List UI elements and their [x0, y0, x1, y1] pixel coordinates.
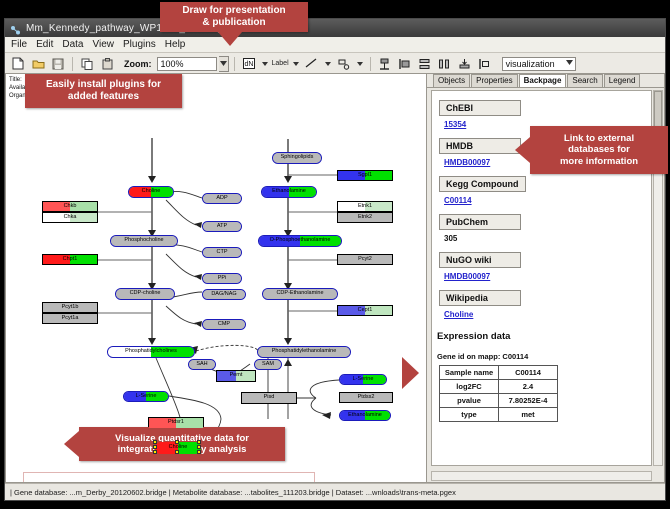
pubchem-value: 305 [444, 234, 651, 243]
zoom-label: Zoom: [124, 59, 152, 69]
menu-file[interactable]: File [11, 39, 27, 50]
backpage-section-nugo: NuGO wiki HMDB00097 [439, 250, 651, 281]
node-label: CMP [218, 322, 230, 328]
scrollbar-thumb[interactable] [654, 91, 662, 131]
node-label: ATP [217, 224, 227, 230]
menu-edit[interactable]: Edit [36, 39, 53, 50]
node-label: L-Serine [136, 394, 157, 400]
node-label: O-Phosphoethanolamine [270, 238, 331, 244]
kegg-header: Kegg Compound [439, 176, 526, 192]
metabolite-node-cdp-ethanolamine[interactable]: CDP-Ethanolamine [262, 288, 338, 300]
menu-plugins[interactable]: Plugins [123, 39, 156, 50]
node-label: CDP-Ethanolamine [276, 291, 323, 297]
metabolite-node-ppi[interactable]: PPi [202, 273, 242, 284]
menu-bar: File Edit Data View Plugins Help [5, 37, 665, 53]
node-label: Ethanolamine [348, 413, 382, 419]
side-panel-horizontal-scrollbar[interactable] [431, 471, 652, 481]
align-top-icon[interactable] [376, 55, 394, 73]
visualization-value: visualization [506, 59, 555, 69]
metabolite-node-phosphatidylcholines[interactable]: Phosphatidylcholines [107, 346, 195, 358]
callout-links-line3: more information [560, 156, 638, 167]
pathvisio-window: Mm_Kennedy_pathway_WP1771_45176.gpml Fil… [4, 18, 666, 501]
node-label: Etnk1 [358, 204, 372, 210]
copy-icon[interactable] [78, 55, 96, 73]
nugo-header: NuGO wiki [439, 252, 521, 268]
metabolite-node-cdp-choline[interactable]: CDP-choline [115, 288, 175, 300]
callout-draw-arrow-icon [218, 32, 242, 46]
node-label: Phosphocholine [124, 238, 163, 244]
gene-node-ptdss2[interactable]: Ptdss2 [339, 392, 393, 403]
node-label: SAM [262, 362, 274, 368]
metabolite-node-phosphatidylethanolamine[interactable]: Phosphatidylethanolamine [257, 346, 351, 358]
selection-handle[interactable] [197, 440, 201, 444]
zoom-combo-caret-icon[interactable] [219, 56, 229, 72]
callout-plugins-arrow-icon [78, 73, 102, 74]
tab-properties[interactable]: Properties [471, 74, 517, 87]
visualization-caret-icon [566, 60, 573, 67]
table-row: log2FC 2.4 [440, 380, 558, 394]
metabolite-node-cmp[interactable]: CMP [202, 319, 246, 330]
node-label: Chkb [64, 204, 77, 210]
tab-legend[interactable]: Legend [604, 74, 641, 87]
table-row: pvalue 7.80252E-4 [440, 394, 558, 408]
node-label: Ethanolamine [272, 189, 306, 195]
expr-value-1: 2.4 [499, 380, 558, 394]
toolbar-separator-2 [234, 57, 235, 71]
metabolite-node-phosphocholine[interactable]: Phosphocholine [110, 235, 178, 247]
metabolite-node-l-serine-right[interactable]: L-Serine [339, 374, 387, 385]
backpage-section-chebi: ChEBI 15354 [439, 98, 651, 129]
zoom-combo[interactable]: 100% [157, 57, 217, 71]
open-folder-icon[interactable] [29, 55, 47, 73]
main-body: Title: Availa Organi [5, 73, 665, 483]
zoom-value: 100% [161, 59, 184, 69]
node-label: Etnk2 [358, 215, 372, 221]
screenshot-root: Mm_Kennedy_pathway_WP1771_45176.gpml Fil… [0, 0, 670, 509]
node-label: Sphingolipids [281, 155, 314, 161]
tab-backpage[interactable]: Backpage [519, 74, 567, 87]
callout-links-line2: databases for [560, 144, 638, 155]
node-label: Pcyt1a [62, 316, 79, 322]
metabolite-node-l-serine-left[interactable]: L-Serine [123, 391, 169, 402]
metabolite-node-sah[interactable]: SAH [188, 359, 216, 370]
gene-node-etnk1[interactable]: Etnk1 [337, 201, 393, 212]
share-banner: Share on Wikipathways.org [23, 472, 315, 483]
line-dropdown-icon[interactable] [323, 55, 333, 73]
callout-links-arrow-icon [515, 137, 530, 163]
selection-handle[interactable] [197, 450, 201, 454]
gene-node-pcyt1b[interactable]: Pcyt1b [42, 302, 98, 313]
node-label: Pemt [230, 373, 243, 379]
wikipedia-header: Wikipedia [439, 290, 521, 306]
gene-node-pcyt2[interactable]: Pcyt2 [337, 254, 393, 265]
gene-node-sgpl1[interactable]: Sgpl1 [337, 170, 393, 181]
metabolite-node-sphingolipids[interactable]: Sphingolipids [272, 152, 322, 164]
side-panel: Objects Properties Backpage Search Legen… [427, 73, 665, 483]
node-label: Phosphatidylcholines [125, 349, 177, 355]
metabolite-node-ctp[interactable]: CTP [202, 247, 242, 258]
node-label: Sgpl1 [358, 173, 372, 179]
save-icon[interactable] [49, 55, 67, 73]
gene-node-chka[interactable]: Chka [42, 212, 98, 223]
node-label: CDP-choline [130, 291, 161, 297]
data-node-tool-icon[interactable]: dN [240, 55, 258, 73]
size-icon[interactable] [476, 55, 494, 73]
gene-node-pisd[interactable]: Pisd [241, 392, 297, 404]
shape-tool-icon[interactable] [335, 55, 353, 73]
callout-plugins-line2: added features [46, 91, 161, 103]
callout-draw: Draw for presentation & publication [160, 2, 308, 32]
backpage-section-pubchem: PubChem 305 [439, 212, 651, 243]
metabolite-node-atp[interactable]: ATP [202, 221, 242, 232]
expr-value-2: 7.80252E-4 [499, 394, 558, 408]
gene-node-chpt1[interactable]: Chpt1 [42, 254, 98, 265]
menu-help[interactable]: Help [165, 39, 186, 50]
stack-icon[interactable] [456, 55, 474, 73]
distribute-horizontal-icon[interactable] [436, 55, 454, 73]
label-dropdown-icon[interactable] [291, 55, 301, 73]
nugo-link[interactable]: HMDB00097 [444, 272, 651, 281]
node-label: PPi [218, 276, 227, 282]
expression-data-title: Expression data [437, 331, 651, 342]
expr-key-2: pvalue [440, 394, 499, 408]
side-panel-tabs: Objects Properties Backpage Search Legen… [427, 74, 664, 88]
wikipedia-link[interactable]: Choline [444, 310, 651, 319]
node-label: Pcyt1b [62, 305, 79, 311]
metabolite-node-ethanolamine[interactable]: Ethanolamine [261, 186, 317, 198]
table-row: Sample name C00114 [440, 366, 558, 380]
chebi-header: ChEBI [439, 100, 521, 116]
new-file-icon[interactable] [9, 55, 27, 73]
callout-links-line1: Link to external [560, 133, 638, 144]
node-label: Choline [142, 189, 161, 195]
callout-draw-line1: Draw for presentation [182, 5, 285, 17]
selection-handle[interactable] [153, 450, 157, 454]
line-tool-icon[interactable] [303, 55, 321, 73]
node-label: CTP [217, 250, 228, 256]
toolbar-separator-1 [72, 57, 73, 71]
visualization-combo[interactable]: visualization [502, 57, 576, 71]
gene-node-cept1[interactable]: Cept1 [337, 305, 393, 316]
align-left-icon[interactable] [396, 55, 414, 73]
pathway-canvas[interactable]: Title: Availa Organi [5, 73, 427, 483]
menu-data[interactable]: Data [62, 39, 83, 50]
node-label: Pisd [264, 395, 275, 401]
expr-value-0: C00114 [499, 366, 558, 380]
pubchem-header: PubChem [439, 214, 521, 230]
gene-id-line: Gene id on mapp: C00114 [437, 352, 651, 361]
label-tool-label[interactable]: Label [272, 60, 289, 67]
hmdb-header: HMDB [439, 138, 521, 154]
selection-handle[interactable] [153, 445, 157, 449]
kegg-link[interactable]: C00114 [444, 196, 651, 205]
distribute-vertical-icon[interactable] [416, 55, 434, 73]
selection-handle[interactable] [197, 445, 201, 449]
expr-key-0: Sample name [440, 366, 499, 380]
expr-key-3: type [440, 408, 499, 422]
callout-plugins: Easily install plugins for added feature… [25, 74, 182, 108]
tab-search[interactable]: Search [567, 74, 602, 87]
metabolite-node-sam[interactable]: SAM [254, 359, 282, 370]
callout-visualize-arrow-icon [64, 431, 79, 457]
menu-view[interactable]: View [92, 39, 114, 50]
node-label: Phosphatidylethanolamine [272, 349, 337, 355]
tool-bar: Zoom: 100% dN Label [5, 53, 665, 75]
callout-draw-line2: & publication [182, 17, 285, 29]
shape-dropdown-icon[interactable] [355, 55, 365, 73]
gene-node-chkb[interactable]: Chkb [42, 201, 98, 212]
title-bar: Mm_Kennedy_pathway_WP1771_45176.gpml [5, 19, 665, 37]
selection-handle[interactable] [175, 450, 179, 454]
metabolite-node-ethanolamine-right[interactable]: Ethanolamine [339, 410, 391, 421]
svg-text:dN: dN [244, 61, 253, 68]
selection-handle[interactable] [175, 440, 179, 444]
node-label: L-Serine [353, 377, 374, 383]
expression-table: Sample name C00114 log2FC 2.4 pvalue 7.8… [439, 365, 558, 422]
gene-node-pemt[interactable]: Pemt [216, 370, 256, 382]
callout-plugins-line1: Easily install plugins for [46, 79, 161, 91]
paste-icon[interactable] [98, 55, 116, 73]
selection-handle[interactable] [153, 440, 157, 444]
pathvisio-icon [10, 23, 21, 34]
node-label: Pcyt2 [358, 257, 372, 263]
node-label: SAH [196, 362, 207, 368]
backpage-section-wikipedia: Wikipedia Choline [439, 288, 651, 319]
expr-value-3: met [499, 408, 558, 422]
callout-links: Link to external databases for more info… [530, 126, 668, 174]
node-label: Chka [64, 215, 77, 221]
metabolite-node-o-phosphoethanolamine[interactable]: O-Phosphoethanolamine [258, 235, 342, 247]
status-bar: | Gene database: ...m_Derby_20120602.bri… [5, 483, 665, 500]
gene-node-ptdsr1[interactable]: Ptdsr1 [148, 417, 204, 429]
expr-key-1: log2FC [440, 380, 499, 394]
data-node-dropdown-icon[interactable] [260, 55, 270, 73]
status-text: | Gene database: ...m_Derby_20120602.bri… [5, 488, 456, 497]
metabolite-node-dag-nag[interactable]: DAG/NAG [202, 289, 246, 300]
gene-node-etnk2[interactable]: Etnk2 [337, 212, 393, 223]
node-label: Chpt1 [63, 257, 78, 263]
node-label: DAG/NAG [211, 292, 236, 298]
gene-node-pcyt1a[interactable]: Pcyt1a [42, 313, 98, 324]
node-label: Cept1 [358, 308, 373, 314]
metabolite-node-adp[interactable]: ADP [202, 193, 242, 204]
backpage-section-kegg: Kegg Compound C00114 [439, 174, 651, 205]
tab-objects[interactable]: Objects [433, 74, 470, 87]
node-label: Ptdsr1 [168, 420, 184, 426]
node-label: Ptdss2 [358, 395, 375, 401]
node-label: ADP [216, 196, 227, 202]
table-row: type met [440, 408, 558, 422]
callout-visualize-tail-icon [402, 357, 419, 389]
metabolite-node-choline-top[interactable]: Choline [128, 186, 174, 198]
toolbar-separator-3 [370, 57, 371, 71]
